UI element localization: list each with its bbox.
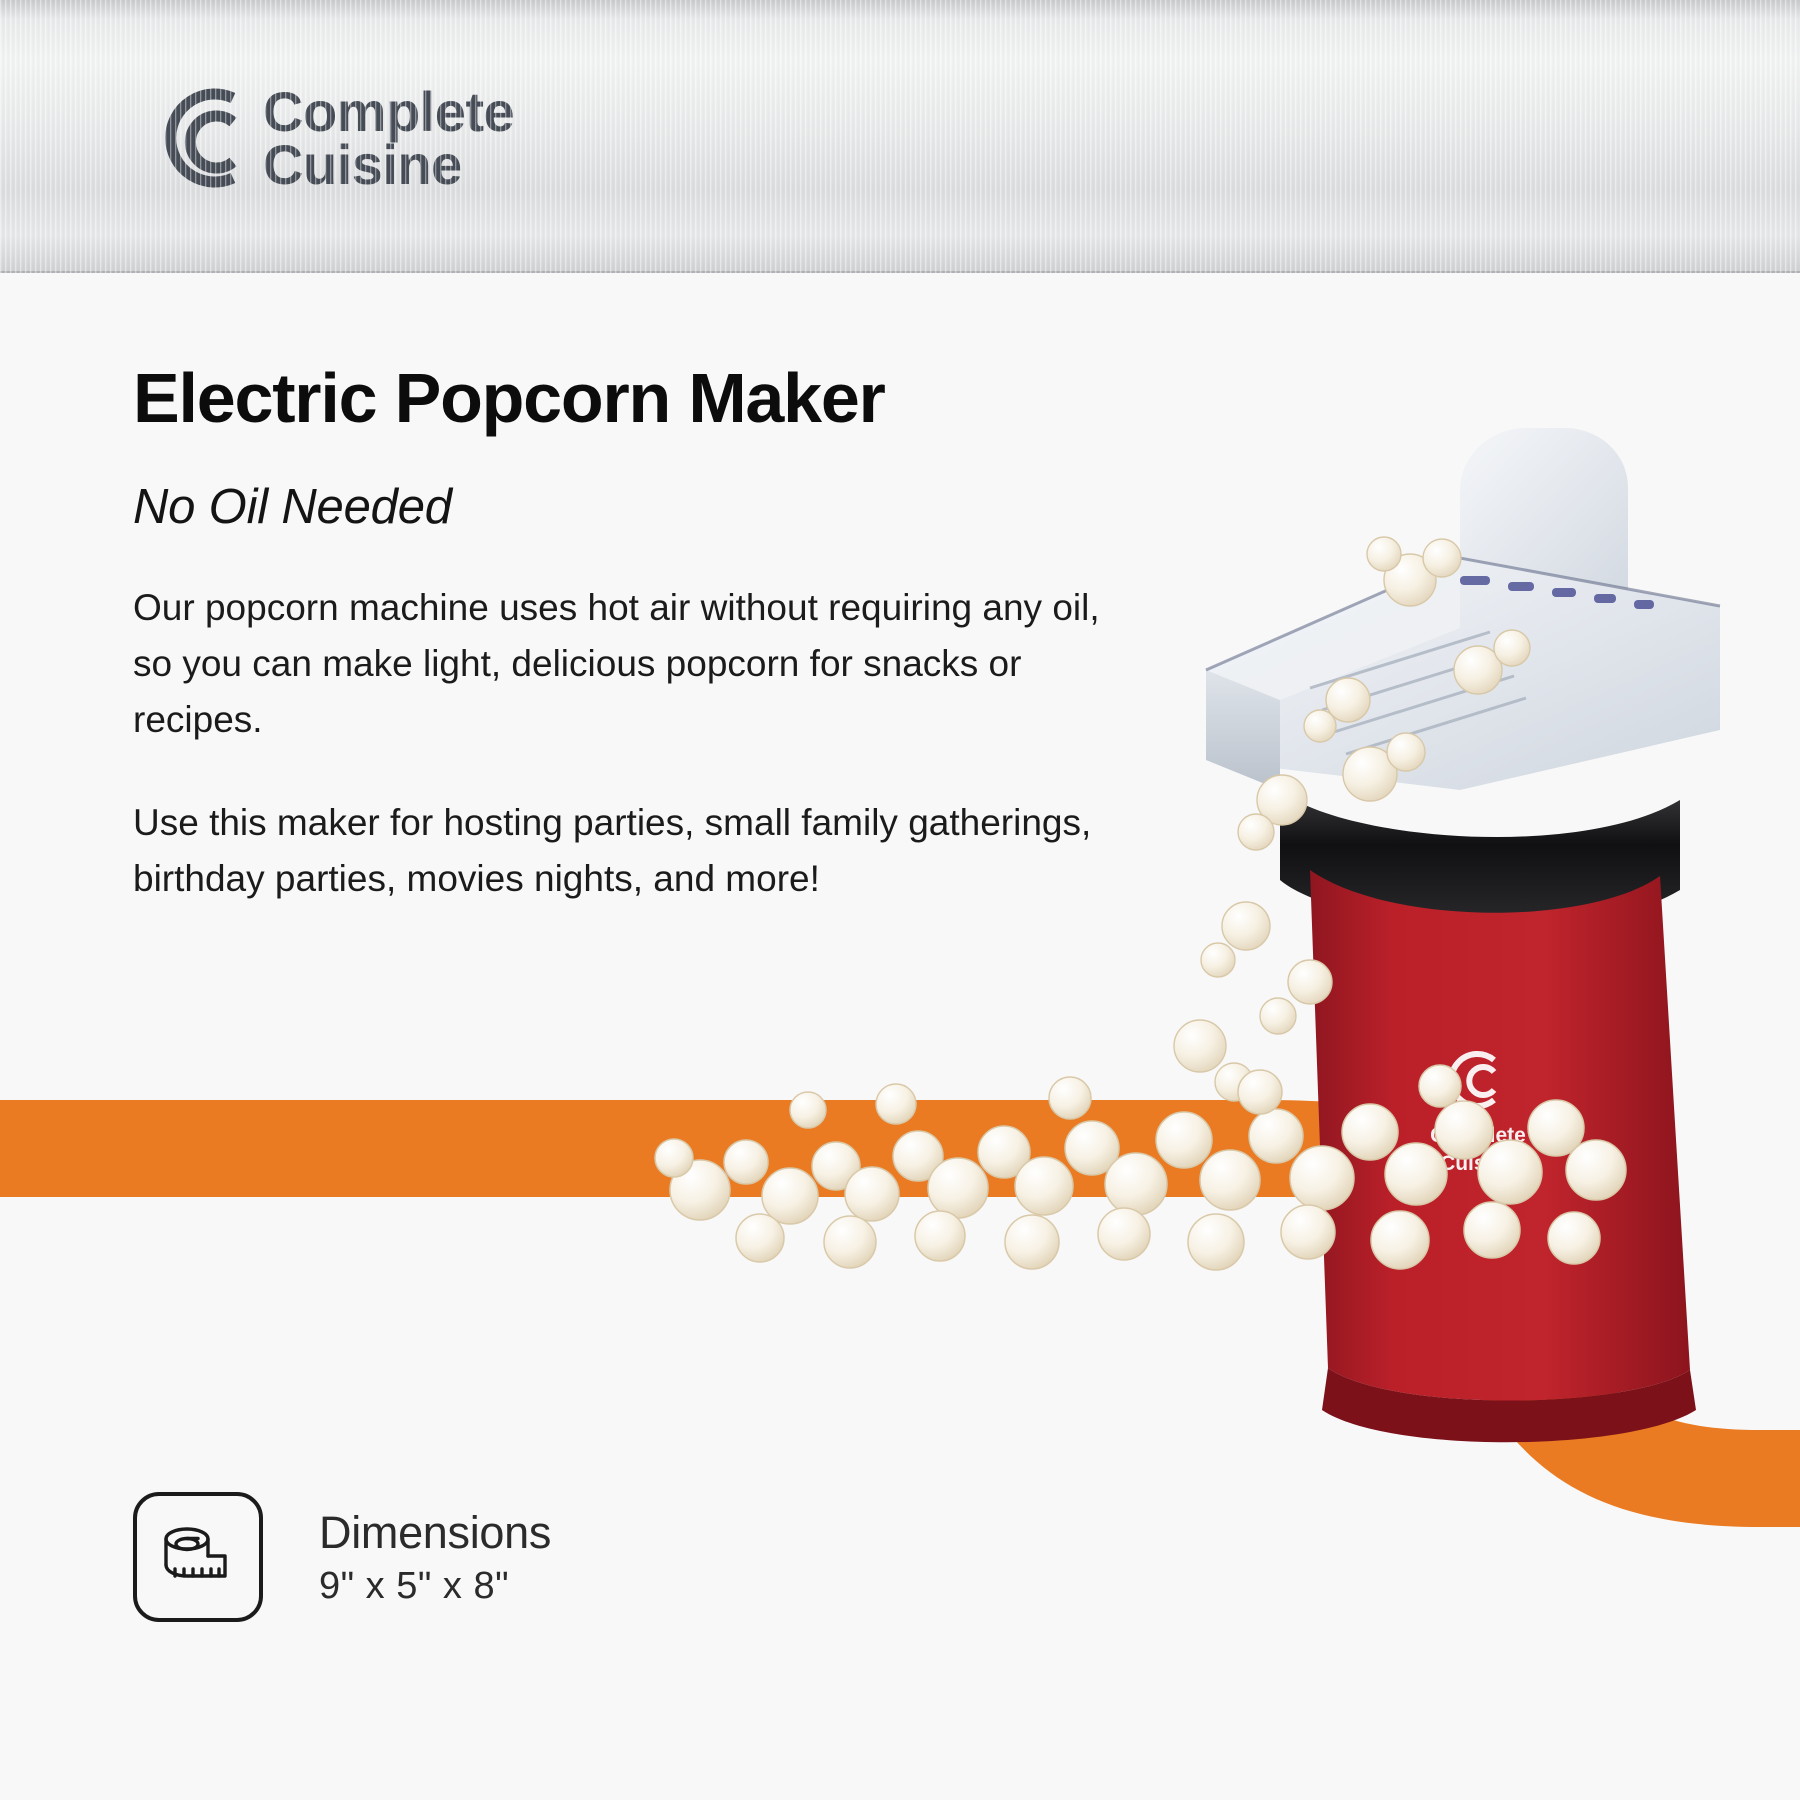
page-subtitle: No Oil Needed xyxy=(133,479,452,535)
brand-name: Complete Cuisine xyxy=(263,85,514,191)
description: Our popcorn machine uses hot air without… xyxy=(133,580,1143,907)
product-red-body: Complete Cuisine xyxy=(1310,870,1696,1442)
measuring-tape-icon xyxy=(133,1492,263,1622)
popcorn-spill-pile xyxy=(640,980,1640,1310)
description-paragraph-1: Our popcorn machine uses hot air without… xyxy=(133,580,1143,749)
product-clear-chute xyxy=(1206,428,1720,790)
product-image: Complete Cuisine xyxy=(1160,370,1800,1610)
brand-header: Complete Cuisine xyxy=(0,0,1800,273)
popcorn-pieces xyxy=(1174,537,1530,1101)
svg-text:Cuisine: Cuisine xyxy=(1440,1152,1516,1175)
svg-text:Complete: Complete xyxy=(1430,1124,1526,1147)
product-black-ring xyxy=(1280,790,1680,927)
header-divider xyxy=(0,271,1800,273)
brand-name-line1: Complete xyxy=(263,85,514,138)
accent-band-curve xyxy=(700,1100,1800,1570)
complete-cuisine-double-arc-logo-icon xyxy=(133,82,241,194)
dimensions-value: 9" x 5" x 8" xyxy=(319,1565,551,1608)
product-infographic: Complete Cuisine xyxy=(0,0,1800,1800)
dimensions-label: Dimensions xyxy=(319,1507,551,1559)
brand-lockup: Complete Cuisine xyxy=(133,82,514,194)
product-body-logo: Complete Cuisine xyxy=(1430,1054,1526,1175)
accent-band xyxy=(0,1100,790,1197)
description-paragraph-2: Use this maker for hosting parties, smal… xyxy=(133,795,1143,907)
page-title: Electric Popcorn Maker xyxy=(133,358,885,438)
brand-name-line2: Cuisine xyxy=(263,138,514,191)
dimensions-text: Dimensions 9" x 5" x 8" xyxy=(319,1507,551,1608)
dimensions-spec: Dimensions 9" x 5" x 8" xyxy=(133,1492,551,1622)
